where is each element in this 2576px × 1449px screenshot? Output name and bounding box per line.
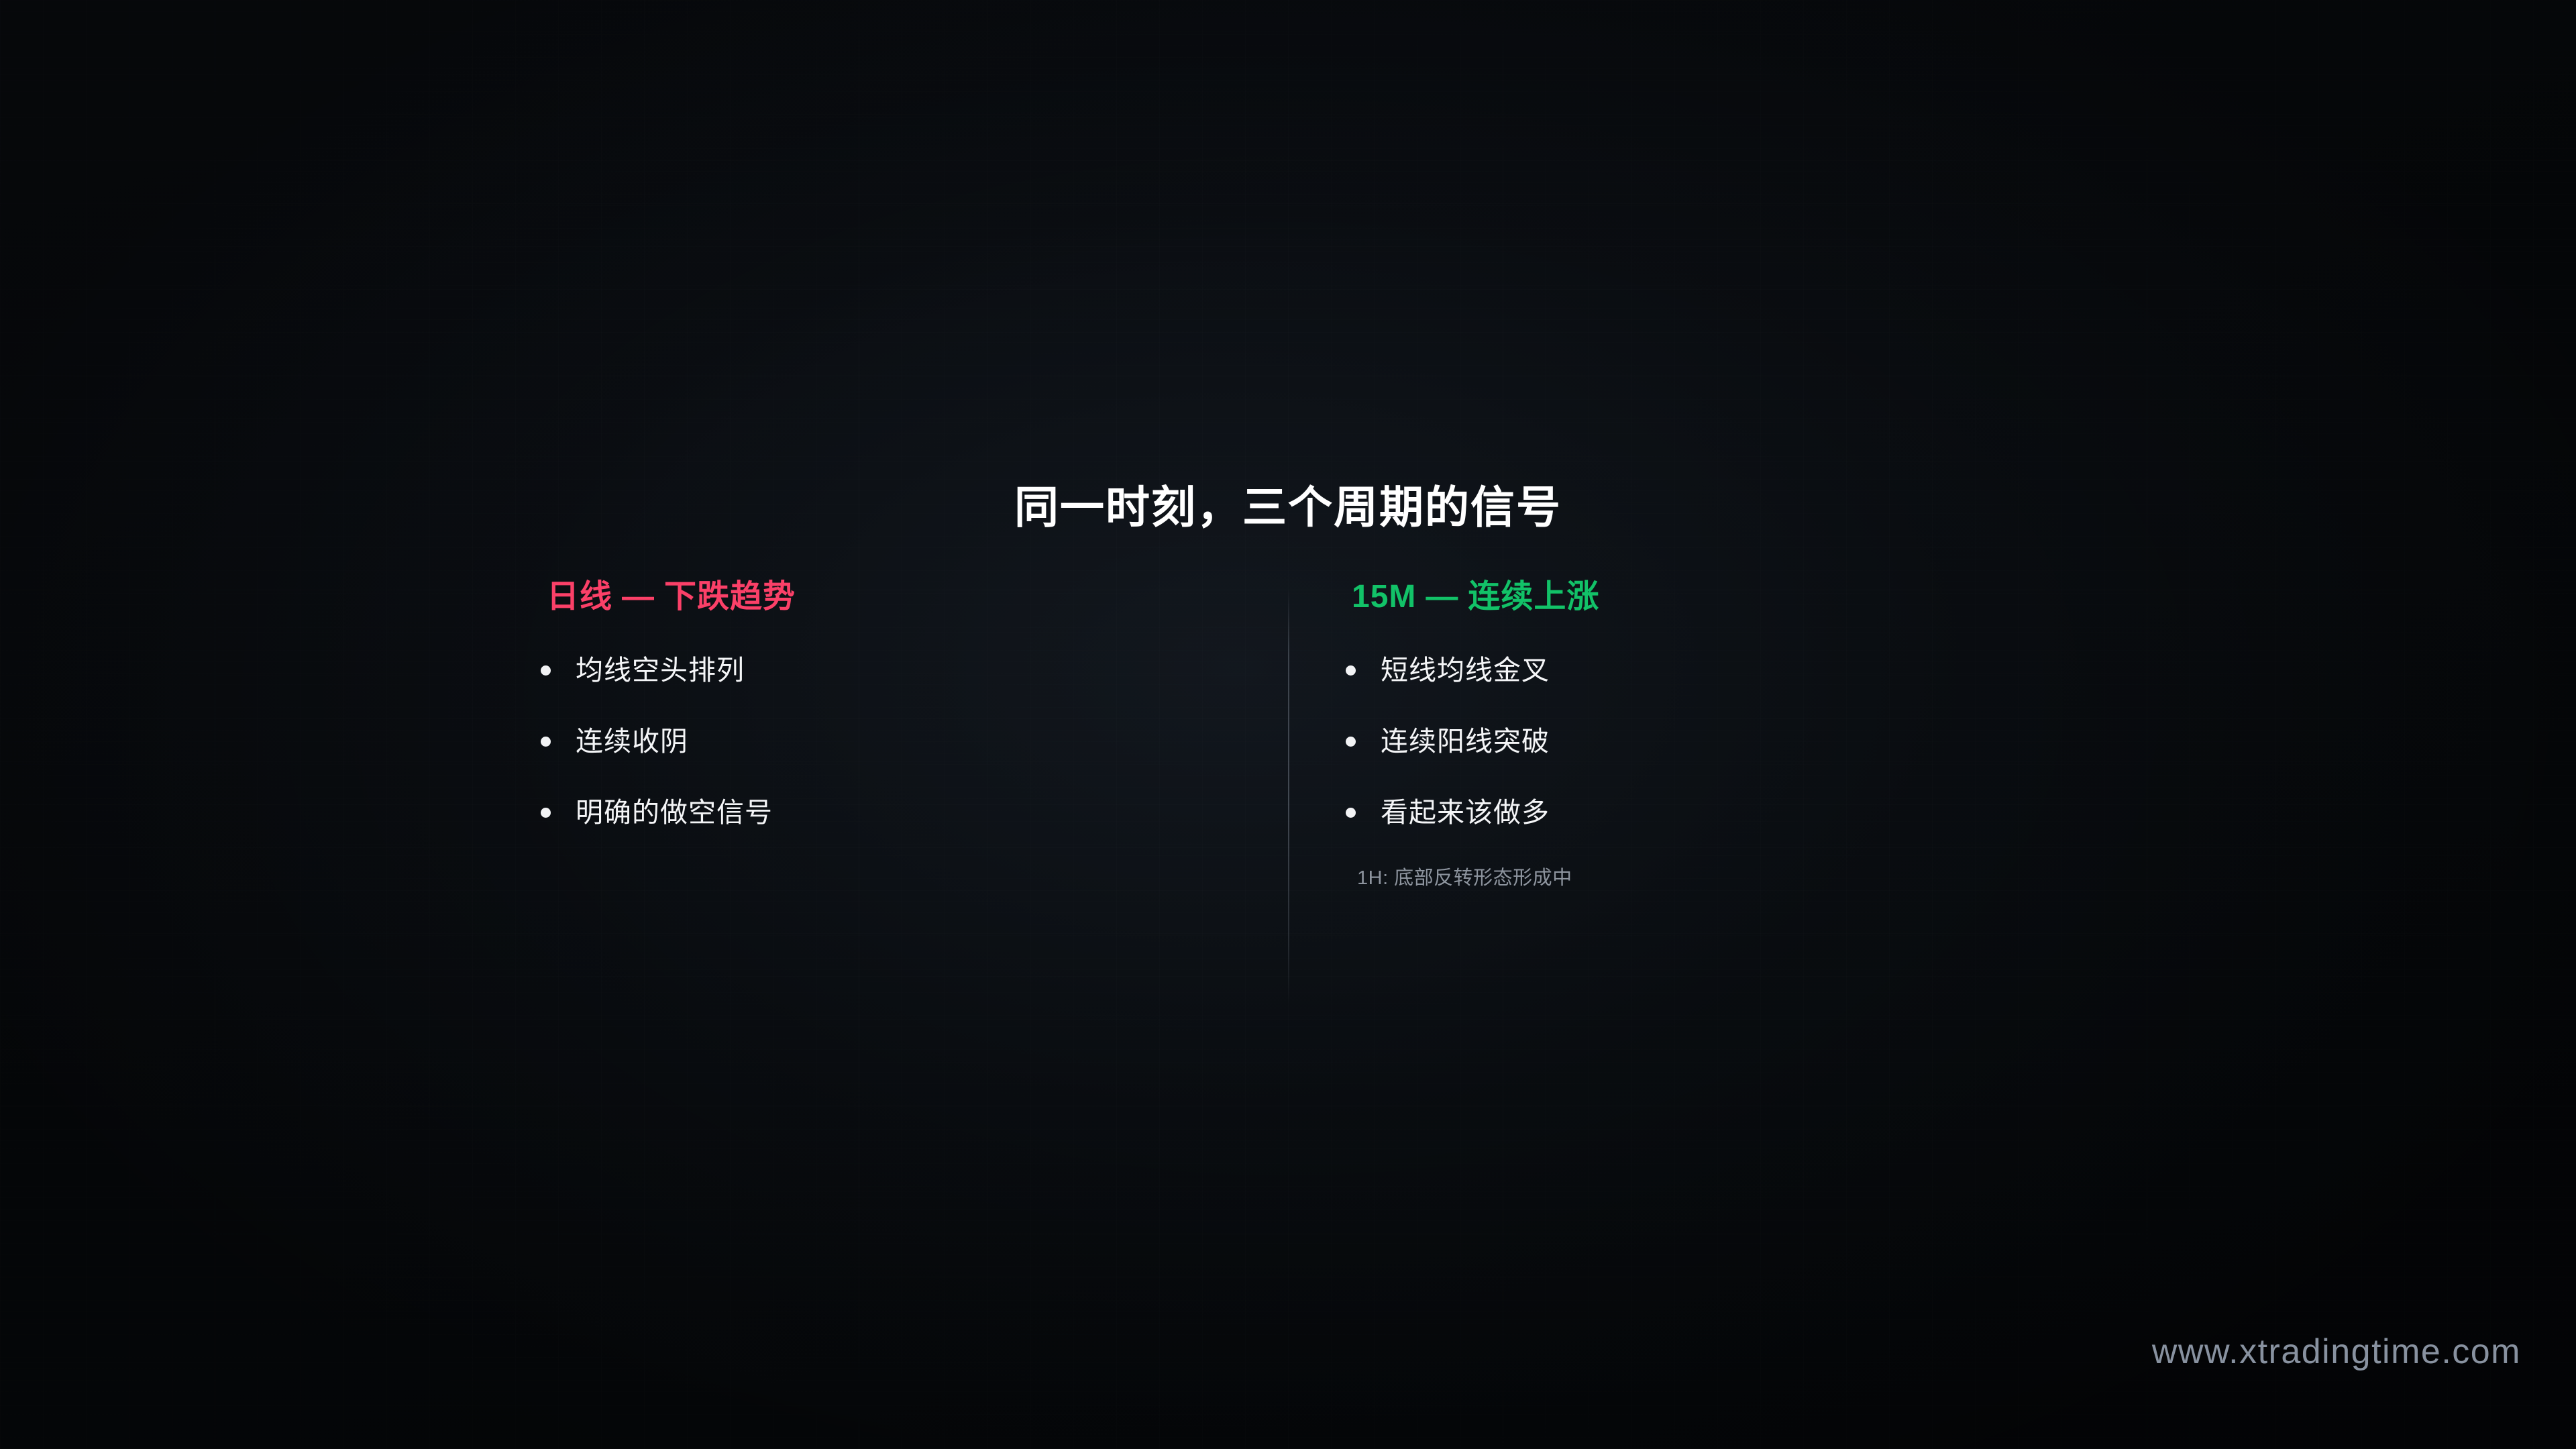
timeframe-note-1h: 1H: 底部反转形态形成中 [1357, 866, 2059, 892]
list-item: 短线均线金叉 [1335, 653, 2059, 688]
column-header-m15: 15M—连续上涨 [1352, 578, 2059, 615]
bullet-list-daily: 均线空头排列 连续收阴 明确的做空信号 [530, 653, 1254, 830]
bullet-label: 明确的做空信号 [576, 796, 773, 830]
list-item: 均线空头排列 [530, 653, 1254, 688]
timeframe-column-m15: 15M—连续上涨 短线均线金叉 连续阳线突破 看起来该做多 [1335, 578, 2059, 892]
bullet-dot-icon [541, 737, 551, 747]
timeframe-label-daily: 日线 [547, 579, 612, 614]
bullet-label: 看起来该做多 [1381, 796, 1550, 830]
timeframe-column-daily: 日线—下跌趋势 均线空头排列 连续收阴 明确的做空信号 [530, 578, 1254, 866]
list-item: 看起来该做多 [1335, 795, 2059, 830]
timeframe-columns: 日线—下跌趋势 均线空头排列 连续收阴 明确的做空信号 [530, 578, 2059, 1048]
list-item: 连续收阴 [530, 724, 1254, 759]
page-title: 同一时刻，三个周期的信号 [0, 483, 2576, 532]
bullet-dot-icon [1346, 665, 1356, 676]
list-item: 明确的做空信号 [530, 795, 1254, 830]
presentation-slide: 同一时刻，三个周期的信号 日线—下跌趋势 均线空头排列 连续收阴 [0, 0, 2576, 1449]
bullet-label: 均线空头排列 [576, 653, 745, 688]
list-item: 连续阳线突破 [1335, 724, 2059, 759]
verdict-label-m15: 连续上涨 [1468, 579, 1599, 614]
timeframe-label-m15: 15M [1352, 579, 1416, 614]
bullet-label: 短线均线金叉 [1381, 653, 1550, 688]
bullet-label: 连续收阴 [576, 724, 688, 759]
bullet-dot-icon [541, 808, 551, 818]
column-header-daily: 日线—下跌趋势 [547, 578, 1254, 615]
site-watermark: www.xtradingtime.com [2152, 1332, 2521, 1372]
bullet-dot-icon [1346, 737, 1356, 747]
dash-separator-daily: — [622, 578, 655, 615]
bullet-dot-icon [541, 665, 551, 676]
bullet-label: 连续阳线突破 [1381, 724, 1550, 759]
dash-separator-m15: — [1426, 578, 1458, 615]
slide-content: 同一时刻，三个周期的信号 日线—下跌趋势 均线空头排列 连续收阴 [0, 0, 2576, 1449]
bullet-list-m15: 短线均线金叉 连续阳线突破 看起来该做多 [1335, 653, 2059, 830]
verdict-label-daily: 下跌趋势 [664, 579, 796, 614]
bullet-dot-icon [1346, 808, 1356, 818]
